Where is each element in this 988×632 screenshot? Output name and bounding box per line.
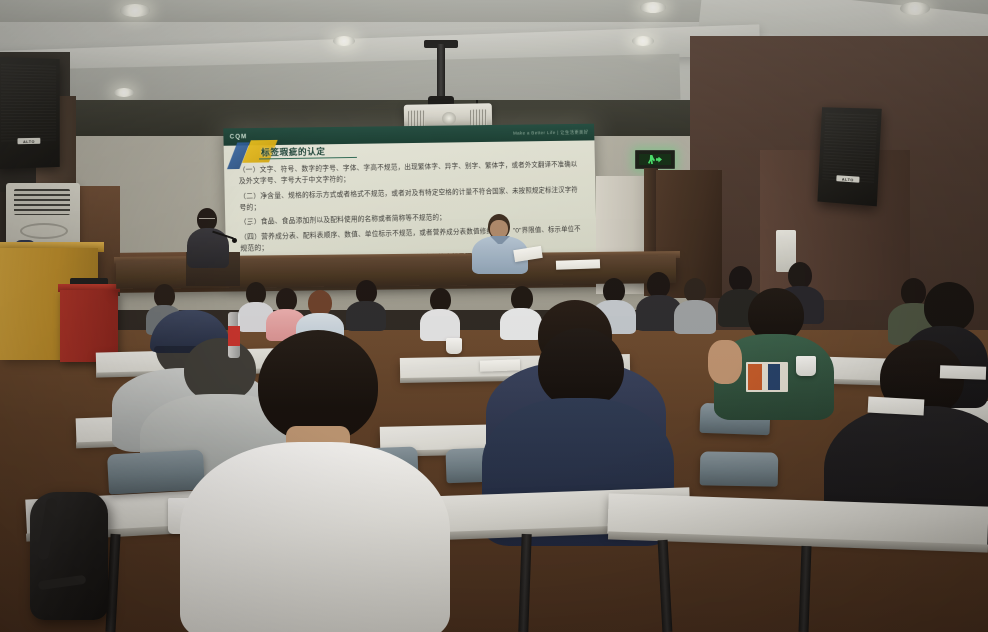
emergency-exit-sign-icon	[635, 150, 675, 169]
slide-paragraph: （一）文字、符号、数字的字号、字体、字高不规范，出现繁体字、异字、别字、繁体字，…	[239, 159, 582, 187]
downlight-1	[120, 4, 150, 17]
conference-room-photo: CQM Make a Better Life | 让生活更美好 标签瑕疵的认定 …	[0, 0, 988, 632]
chair[interactable]	[700, 451, 779, 486]
microphone-head-icon	[232, 238, 237, 243]
coffee-mug-green-row	[796, 356, 816, 376]
torso	[346, 301, 386, 331]
attendee-white-shirt-foreground	[180, 330, 450, 632]
papers-on-table-mid	[480, 359, 520, 371]
papers-on-table-right2	[940, 365, 986, 380]
slide-paragraph: （二）净含量、规格的标示方式或者格式不规范，或者对及有特定空格的计量不符合国家、…	[239, 184, 582, 213]
downlight-7	[114, 88, 134, 97]
slide-header: CQM Make a Better Life | 让生活更美好	[223, 124, 594, 146]
torso	[674, 300, 716, 334]
head	[924, 282, 974, 332]
tshirt-graphic-accent	[748, 364, 762, 390]
projector-pole	[437, 44, 445, 100]
tshirt-graphic-accent2	[768, 364, 780, 390]
exit-arrow-icon	[656, 157, 662, 163]
downlight-5	[900, 2, 930, 15]
papers-on-presenter-table	[556, 259, 600, 270]
arm	[708, 340, 742, 384]
ac-logo-plate	[20, 223, 68, 239]
attendee-green-graphic-tee	[714, 288, 834, 416]
presenter-woman-glasses-icon	[199, 218, 215, 222]
torso	[180, 442, 450, 632]
attendee-row1-right-c	[674, 278, 716, 328]
papers-on-table-right	[868, 397, 925, 416]
downlight-3	[632, 36, 654, 46]
right-wall-speaker: ALTO	[817, 107, 881, 206]
left-speaker-brand: ALTO	[23, 138, 35, 143]
downlight-4	[640, 2, 666, 13]
downlight-2	[333, 36, 355, 46]
exit-runner-icon	[648, 155, 655, 164]
ac-vent-grill	[14, 189, 70, 215]
slide-title: 标签瑕疵的认定	[261, 145, 326, 158]
right-speaker-brand: ALTO	[842, 176, 854, 182]
attendee-dark-top-row1	[346, 280, 386, 326]
presenter-officer-at-table	[472, 214, 528, 272]
slide-tagline: Make a Better Life | 让生活更美好	[513, 129, 588, 136]
slide-logo: CQM	[230, 134, 248, 140]
red-cabinet	[60, 290, 118, 362]
slide-title-underline	[259, 157, 357, 160]
attendee-white-row1-c	[420, 288, 460, 336]
head	[538, 328, 624, 408]
projector-lens	[442, 112, 456, 125]
left-wall-speaker: ALTO	[0, 57, 60, 169]
head	[788, 262, 812, 289]
presenter-woman-at-lectern	[186, 208, 230, 264]
